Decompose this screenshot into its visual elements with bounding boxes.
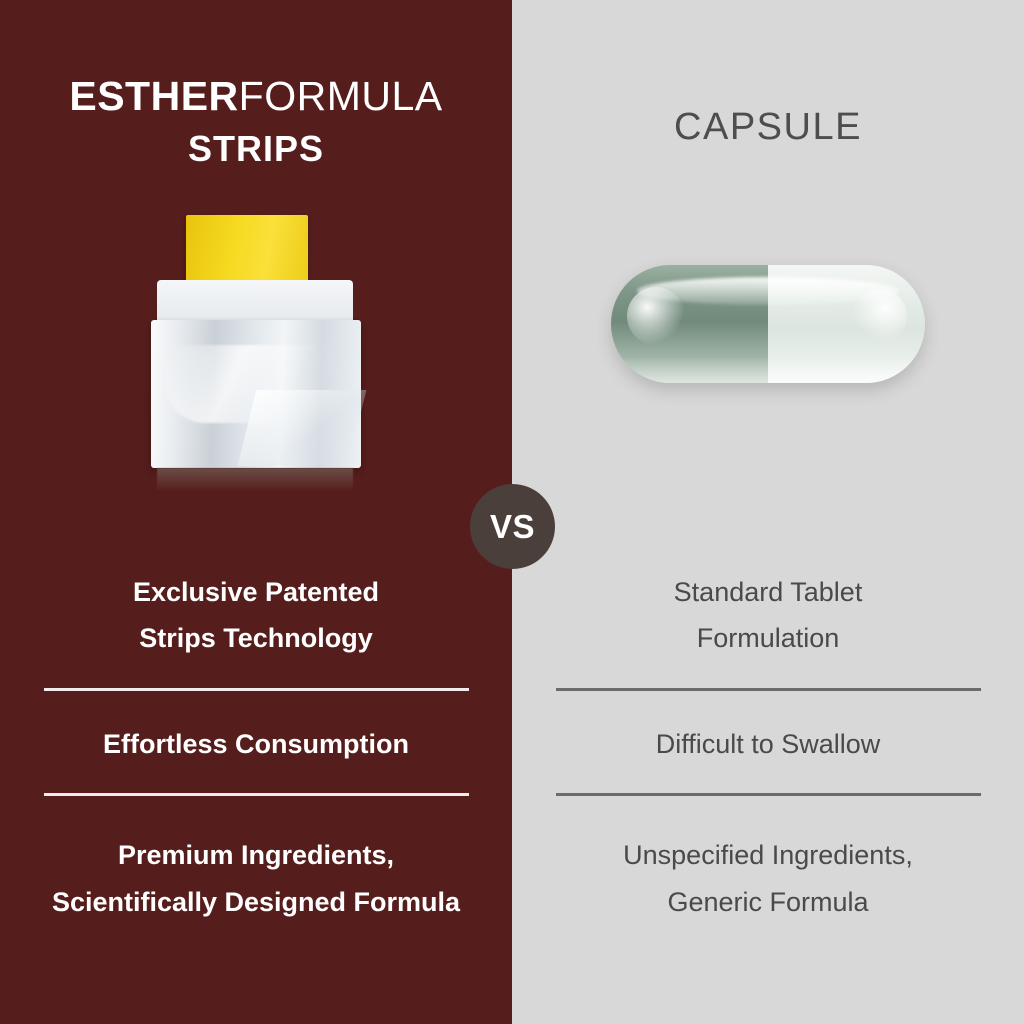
brand-title: ESTHERFORMULA — [0, 72, 512, 120]
comparison-infographic: ESTHERFORMULA STRIPS Exclusive Patented … — [0, 0, 1024, 1024]
vs-badge: VS — [470, 484, 555, 569]
right-feature-text-3: Unspecified Ingredients, Generic Formula — [512, 832, 1024, 925]
brand-name-light: FORMULA — [239, 73, 443, 119]
brand-name-strong: ESTHER — [69, 73, 238, 119]
left-feature-text-2: Effortless Consumption — [0, 721, 512, 767]
capsule-title: CAPSULE — [512, 105, 1024, 150]
capsule-gloss-left — [627, 287, 685, 345]
right-feature-text-1: Standard Tablet Formulation — [512, 569, 1024, 662]
right-feature-text-2: Difficult to Swallow — [512, 721, 1024, 767]
capsule-illustration — [611, 265, 925, 385]
left-feature-item-1: Exclusive Patented Strips Technology — [0, 565, 512, 662]
right-feature-item-3: Unspecified Ingredients, Generic Formula — [512, 822, 1024, 925]
right-feature-list: Standard Tablet Formulation Difficult to… — [512, 565, 1024, 925]
capsule-product-image — [512, 265, 1024, 565]
right-divider-2 — [556, 793, 981, 796]
capsule-icon — [611, 265, 925, 383]
strips-product-image — [0, 195, 512, 495]
left-feature-text-3: Premium Ingredients, Scientifically Desi… — [0, 832, 512, 925]
right-feature-item-2: Difficult to Swallow — [512, 717, 1024, 767]
left-divider-1 — [44, 688, 469, 691]
capsule-bottom-shade — [611, 357, 925, 383]
sachet-reflection — [157, 468, 353, 492]
left-divider-2 — [44, 793, 469, 796]
sachet-fold-highlight — [238, 390, 367, 466]
right-divider-1 — [556, 688, 981, 691]
brand-subtitle: STRIPS — [0, 128, 512, 170]
left-feature-text-1: Exclusive Patented Strips Technology — [0, 569, 512, 662]
left-feature-item-3: Premium Ingredients, Scientifically Desi… — [0, 822, 512, 925]
left-panel-header: ESTHERFORMULA STRIPS — [0, 72, 512, 171]
sachet-illustration — [151, 195, 361, 485]
right-feature-item-1: Standard Tablet Formulation — [512, 565, 1024, 662]
capsule-gloss-right — [853, 289, 907, 343]
left-feature-item-2: Effortless Consumption — [0, 717, 512, 767]
right-panel-capsule: CAPSULE Standard Tablet Formulation — [512, 0, 1024, 1024]
right-panel-header: CAPSULE — [512, 105, 1024, 150]
left-feature-list: Exclusive Patented Strips Technology Eff… — [0, 565, 512, 925]
left-panel-esther-formula-strips: ESTHERFORMULA STRIPS Exclusive Patented … — [0, 0, 512, 1024]
vs-label: VS — [490, 510, 535, 543]
